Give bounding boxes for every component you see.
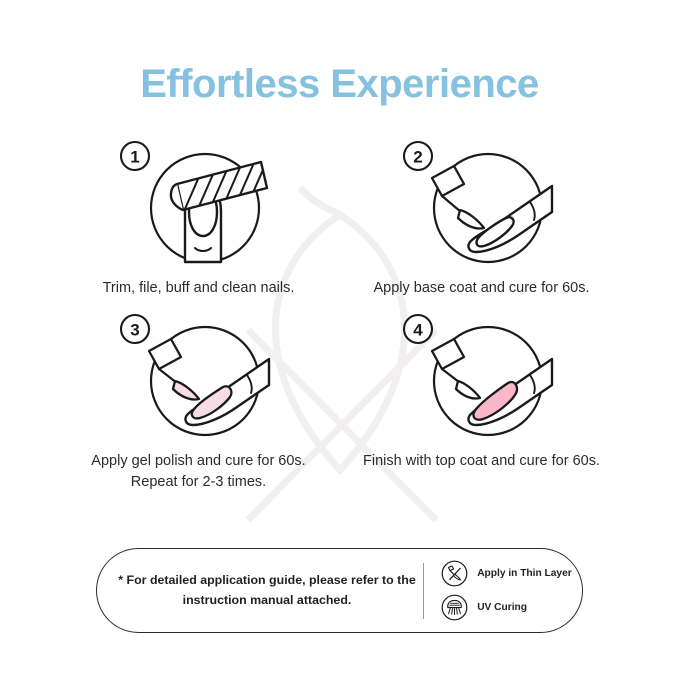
step-2-caption: Apply base coat and cure for 60s.: [357, 278, 607, 299]
step-4-illustration: 4: [402, 313, 562, 439]
footer-icon-item-uv-curing: UV Curing: [441, 594, 582, 621]
thin-layer-brush-icon: [441, 560, 468, 587]
step-2-illustration: 2: [402, 140, 562, 266]
step-number: 3: [130, 321, 139, 340]
product-instruction-graphic: Effortless Experience: [0, 0, 679, 679]
step-number: 1: [130, 148, 139, 167]
step-item-3: 3 Apply gel polish and cure for 60s. Rep…: [62, 313, 335, 493]
step-1-caption: Trim, file, buff and clean nails.: [74, 278, 324, 299]
uv-lamp-icon: [441, 594, 468, 621]
footer-icon-list: Apply in Thin Layer UV Curin: [424, 560, 582, 621]
page-title: Effortless Experience: [0, 62, 679, 107]
footer-icon-label: UV Curing: [477, 602, 527, 613]
step-3-caption: Apply gel polish and cure for 60s. Repea…: [74, 451, 324, 493]
step-4-badge: 4: [404, 315, 432, 343]
step-item-1: 1 Trim, file, buff and clean nails.: [62, 140, 335, 299]
footer-icon-item-thin-layer: Apply in Thin Layer: [441, 560, 582, 587]
footer-note-text: * For detailed application guide, please…: [97, 571, 423, 611]
step-number: 4: [413, 321, 423, 340]
step-3-illustration: 3: [119, 313, 279, 439]
step-4-caption: Finish with top coat and cure for 60s.: [357, 451, 607, 472]
step-item-4: 4 Finish with top coat and cure for 60s.: [345, 313, 618, 493]
step-1-illustration: 1: [119, 140, 279, 266]
footer-note-panel: * For detailed application guide, please…: [96, 548, 583, 633]
step-number: 2: [413, 148, 422, 167]
steps-grid: 1 Trim, file, buff and clean nails.: [62, 140, 618, 493]
step-2-badge: 2: [404, 142, 432, 170]
step-item-2: 2 Apply base coat and cure for 60s.: [345, 140, 618, 299]
step-1-badge: 1: [121, 142, 149, 170]
footer-icon-label: Apply in Thin Layer: [477, 568, 572, 579]
step-3-badge: 3: [121, 315, 149, 343]
